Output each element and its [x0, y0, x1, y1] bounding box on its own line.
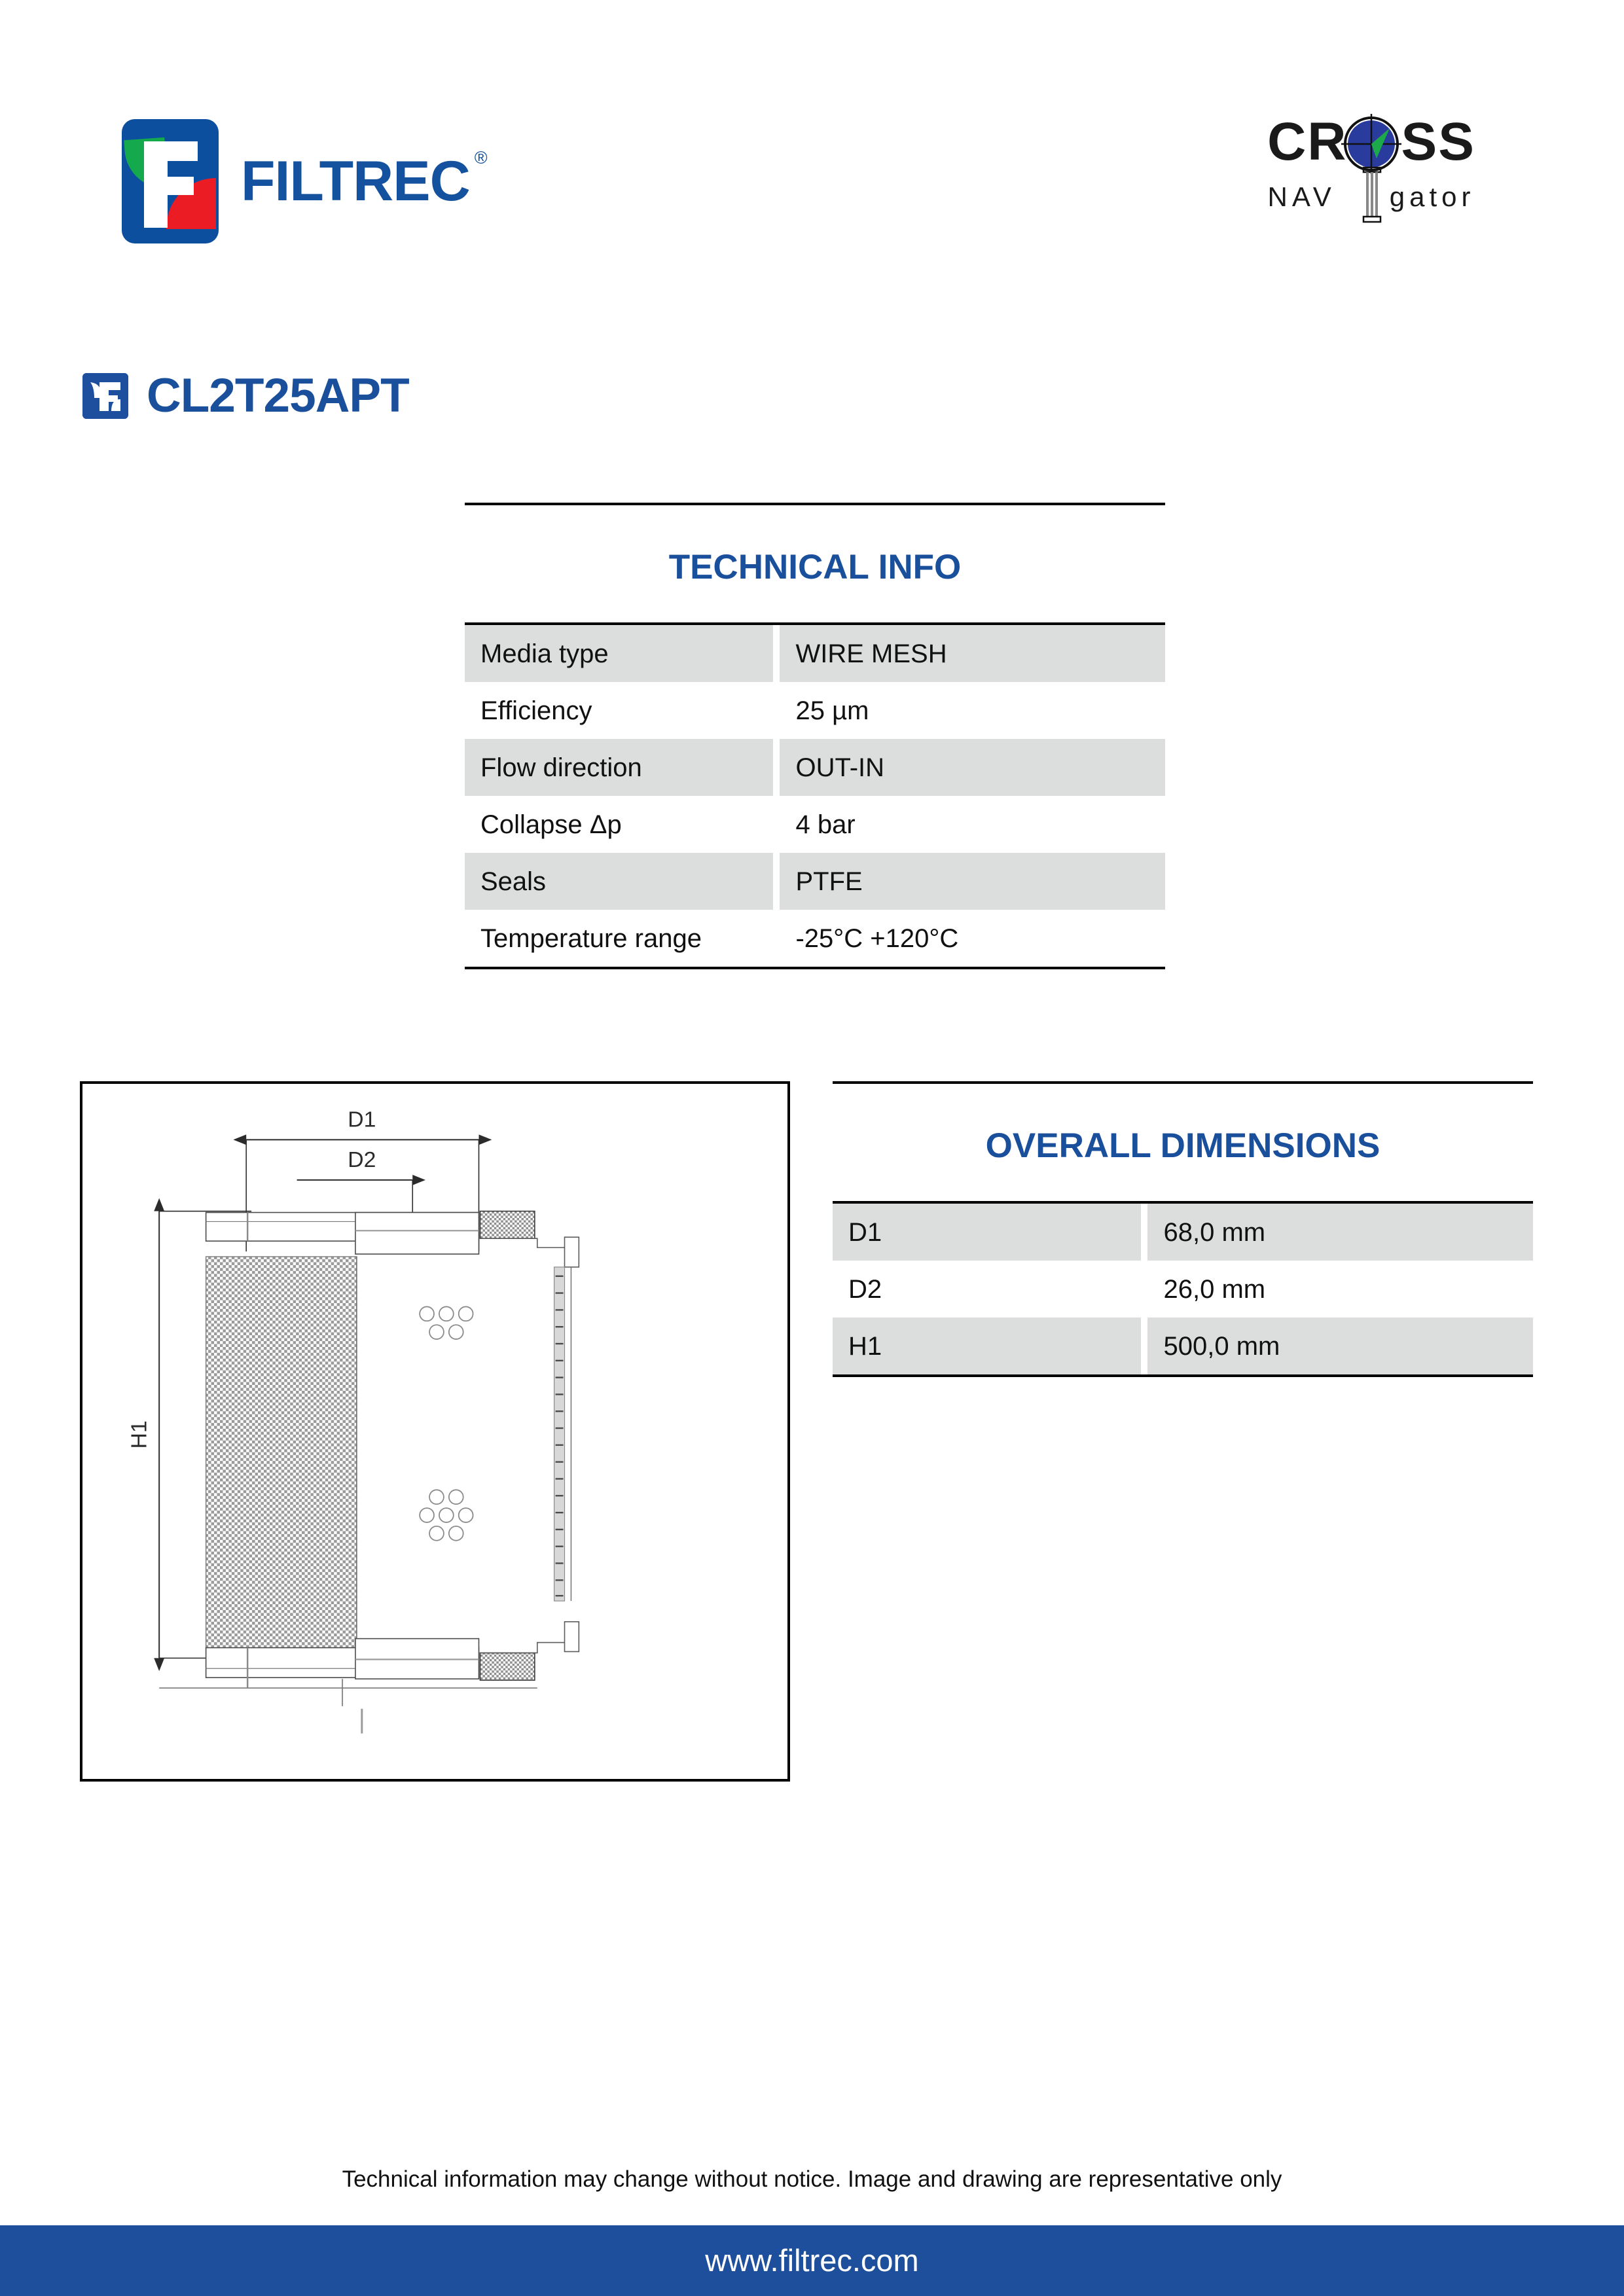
spec-label: Collapse Δp	[465, 796, 773, 853]
overall-dimensions-heading: OVERALL DIMENSIONS	[833, 1084, 1533, 1201]
footer-website-link[interactable]: www.filtrec.com	[0, 2225, 1624, 2296]
footer-disclaimer: Technical information may change without…	[0, 2166, 1624, 2193]
filtrec-wordmark-text: FILTREC	[241, 150, 470, 213]
dimension-label: D1	[833, 1204, 1141, 1261]
technical-info-heading: TECHNICAL INFO	[465, 505, 1165, 622]
table-row: Flow direction OUT-IN	[465, 739, 1165, 796]
table-row: Temperature range -25°C +120°C	[465, 910, 1165, 967]
dimension-label-d1: D1	[348, 1107, 376, 1132]
registered-trademark-icon: ®	[475, 149, 487, 167]
filtrec-badge-glyph	[82, 373, 128, 419]
filter-element-technical-drawing: D1 D2 H1	[82, 1084, 787, 1779]
dimension-label-h1: H1	[126, 1420, 151, 1448]
technical-drawing-frame: D1 D2 H1	[80, 1081, 790, 1782]
logo-f-letterform	[141, 136, 199, 228]
perforation-holes-upper	[420, 1306, 473, 1339]
dimension-value: 500,0 mm	[1147, 1318, 1533, 1374]
spec-value: 25 µm	[780, 682, 1165, 739]
spec-label: Media type	[465, 625, 773, 682]
spec-label: Seals	[465, 853, 773, 910]
technical-info-section: TECHNICAL INFO Media type WIRE MESH Effi…	[465, 503, 1165, 969]
nav-word-left: NAV	[1268, 181, 1336, 212]
table-row: Seals PTFE	[465, 853, 1165, 910]
overall-dimensions-section: OVERALL DIMENSIONS D1 68,0 mm D2 26,0 mm…	[833, 1081, 1533, 1377]
technical-info-table: Media type WIRE MESH Efficiency 25 µm Fl…	[465, 622, 1165, 969]
spec-value: WIRE MESH	[780, 625, 1165, 682]
dimension-label: H1	[833, 1318, 1141, 1374]
cross-word-right: SS	[1401, 112, 1475, 171]
top-end-cap	[206, 1211, 535, 1255]
table-row: Efficiency 25 µm	[465, 682, 1165, 739]
dimension-value: 26,0 mm	[1147, 1261, 1533, 1318]
dimension-label-d2: D2	[348, 1147, 376, 1172]
filter-media-mesh	[206, 1257, 357, 1647]
filtrec-badge-icon	[82, 373, 128, 419]
overall-dimensions-table: D1 68,0 mm D2 26,0 mm H1 500,0 mm	[833, 1201, 1533, 1377]
filtrec-logo-mark	[122, 119, 219, 243]
spec-value: OUT-IN	[780, 739, 1165, 796]
page-title: CL2T25APT	[147, 372, 409, 420]
perforation-holes-lower	[420, 1490, 473, 1540]
spec-label: Temperature range	[465, 910, 773, 967]
table-row: D1 68,0 mm	[833, 1204, 1533, 1261]
nav-word-right: gator	[1390, 181, 1475, 212]
table-row: Media type WIRE MESH	[465, 625, 1165, 682]
filtrec-logo: FILTREC ®	[122, 119, 487, 243]
support-tube	[554, 1267, 565, 1601]
cross-navigator-logo: CRSS NAVgator	[1240, 115, 1502, 240]
spec-label: Flow direction	[465, 739, 773, 796]
cross-word-left: CR	[1267, 112, 1347, 171]
dimension-label: D2	[833, 1261, 1141, 1318]
filtrec-wordmark: FILTREC ®	[241, 153, 487, 209]
top-seal-block	[480, 1211, 534, 1239]
footer-bar: www.filtrec.com	[0, 2225, 1624, 2296]
navigator-wordmark: NAVgator	[1240, 183, 1502, 211]
table-row: H1 500,0 mm	[833, 1318, 1533, 1374]
table-row: Collapse Δp 4 bar	[465, 796, 1165, 853]
page-header: FILTREC ® CRSS NAVgator	[0, 0, 1624, 275]
bottom-seal-block	[480, 1653, 534, 1680]
spec-value: 4 bar	[780, 796, 1165, 853]
spec-value: -25°C +120°C	[780, 910, 1165, 967]
dimension-value: 68,0 mm	[1147, 1204, 1533, 1261]
spec-value: PTFE	[780, 853, 1165, 910]
product-title-row: CL2T25APT	[82, 372, 409, 420]
spec-label: Efficiency	[465, 682, 773, 739]
table-row: D2 26,0 mm	[833, 1261, 1533, 1318]
